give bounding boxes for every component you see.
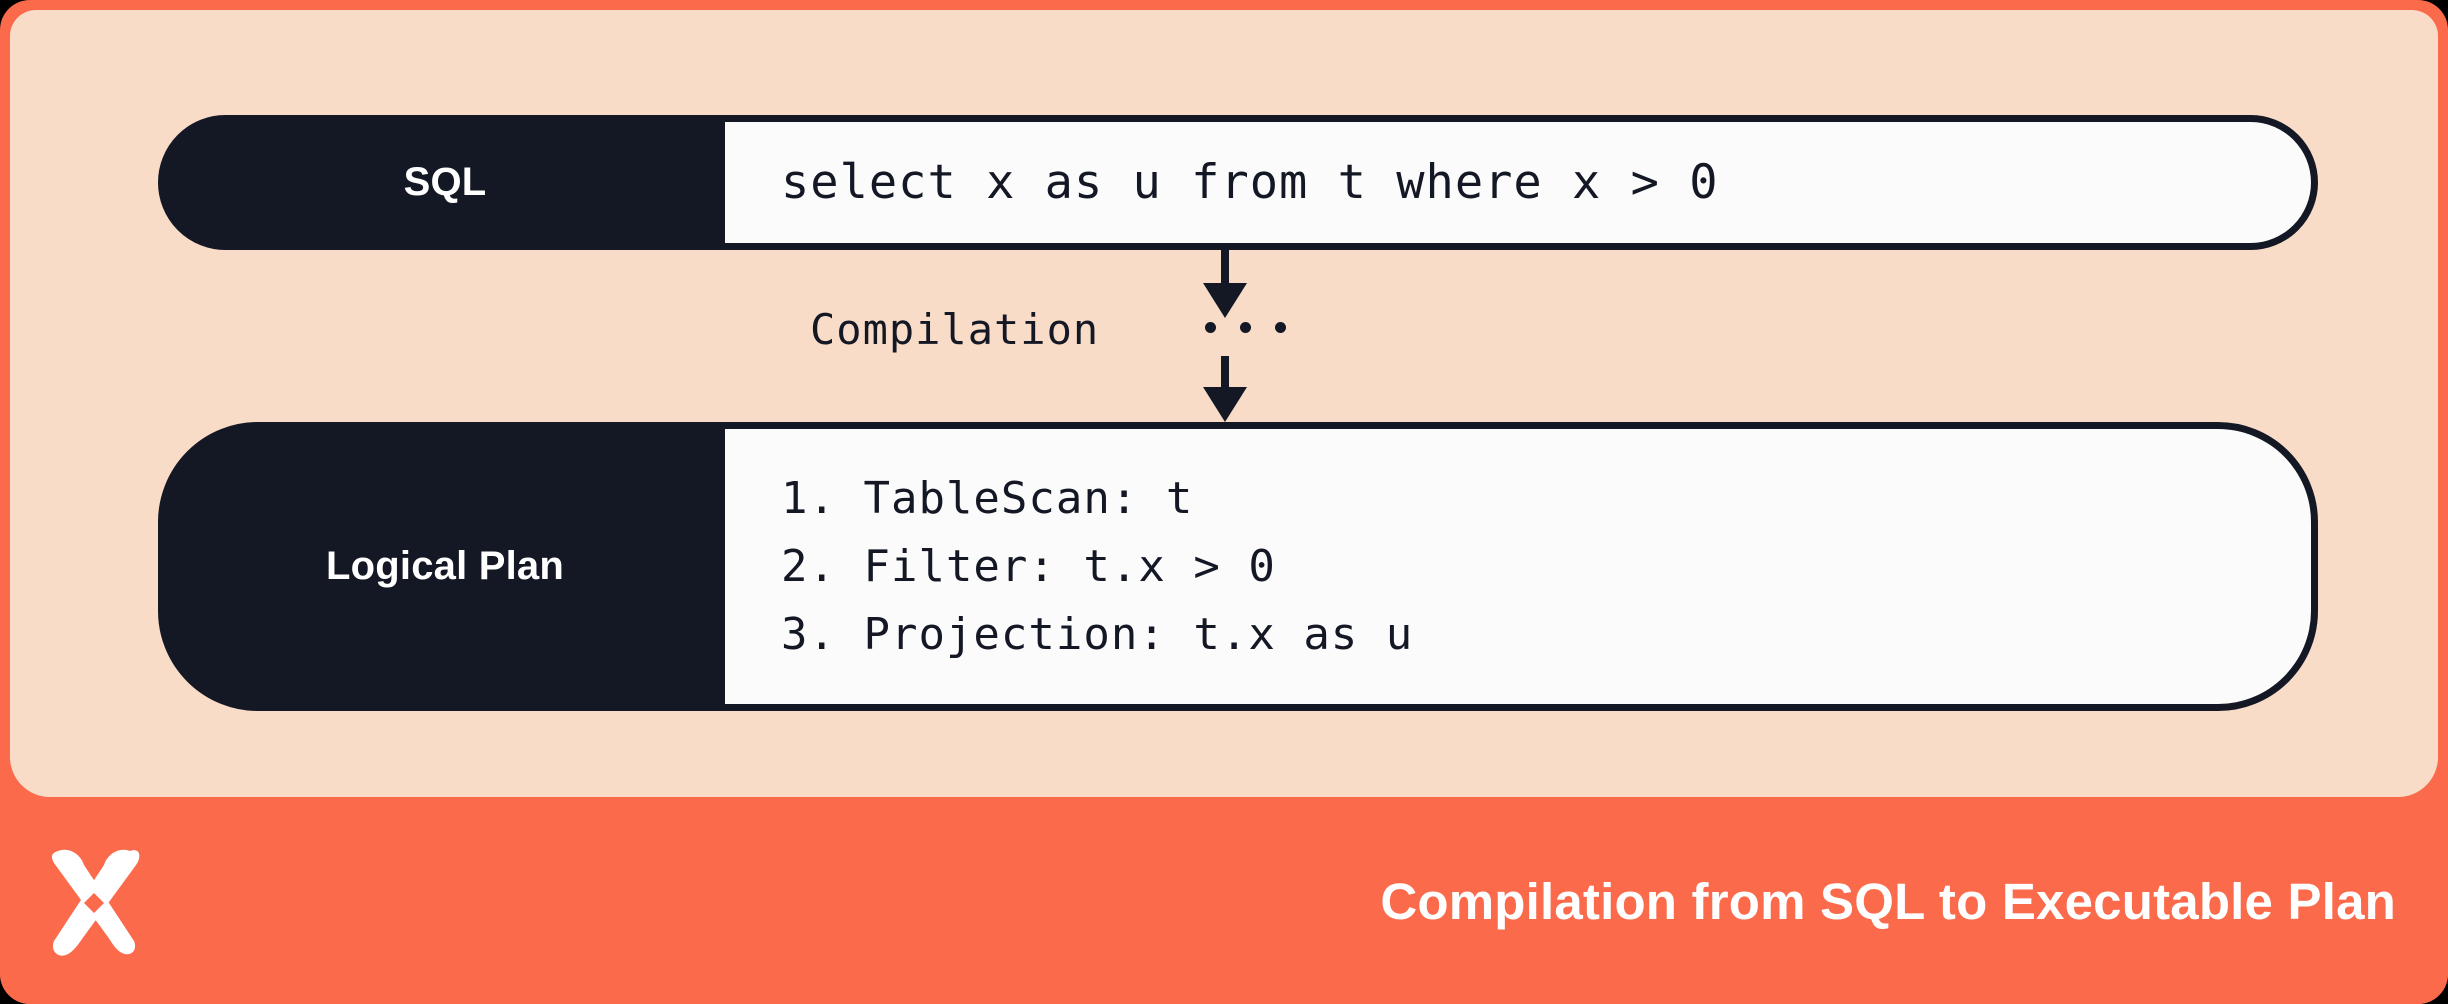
arrow-down-lower [1203,356,1247,422]
compilation-step-label: Compilation [810,305,1099,354]
plan-step-3: 3. Projection: t.x as u [781,601,2311,669]
compilation-flow-arrows [10,250,2438,422]
sql-query-text: select x as u from t where x > 0 [781,155,2311,210]
arrow-down-upper [1203,250,1247,318]
ellipsis-dot [1275,322,1286,333]
x-mark-logo-icon [38,845,150,957]
sql-row: SQL select x as u from t where x > 0 [158,115,2318,250]
sql-row-label: SQL [165,122,725,243]
ellipsis-icon [1205,322,1286,333]
ellipsis-dot [1240,322,1251,333]
figure-caption: Compilation from SQL to Executable Plan [1380,872,2396,931]
diagram-card: SQL select x as u from t where x > 0 Com… [0,0,2448,1004]
plan-step-1: 1. TableScan: t [781,465,2311,533]
logical-plan-row-label: Logical Plan [165,429,725,704]
logical-plan-row: Logical Plan 1. TableScan: t 2. Filter: … [158,422,2318,711]
sql-row-content: select x as u from t where x > 0 [725,122,2311,243]
diagram-panel: SQL select x as u from t where x > 0 Com… [10,10,2438,797]
ellipsis-dot [1205,322,1216,333]
logical-plan-row-content: 1. TableScan: t 2. Filter: t.x > 0 3. Pr… [725,429,2311,704]
plan-step-2: 2. Filter: t.x > 0 [781,533,2311,601]
